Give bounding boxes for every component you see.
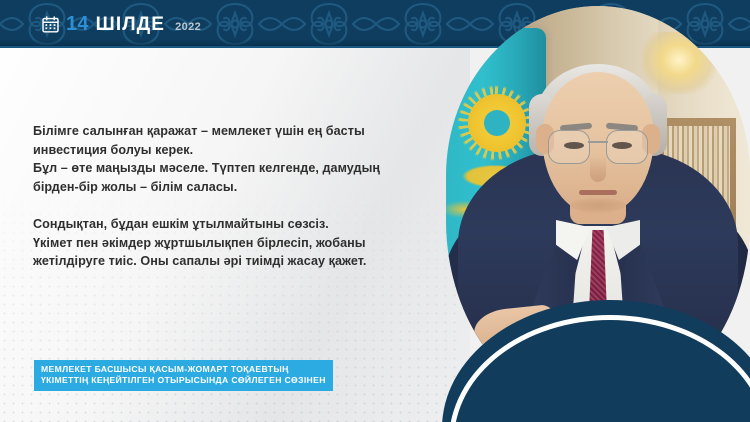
nose bbox=[590, 156, 606, 182]
calendar-icon bbox=[42, 16, 59, 33]
quote-paragraph-1: Білімге салынған қаражат – мемлекет үшін… bbox=[33, 122, 403, 196]
source-caption-banner: МЕМЛЕКЕТ БАСШЫСЫ ҚАСЫМ-ЖОМАРТ ТОҚАЕВТЫҢ … bbox=[34, 360, 333, 391]
flag-pole-finial bbox=[472, 16, 498, 40]
lens-left bbox=[548, 130, 590, 164]
quote-block: Білімге салынған қаражат – мемлекет үшін… bbox=[33, 122, 403, 271]
mouth bbox=[579, 190, 617, 195]
photo-chandelier bbox=[642, 32, 716, 94]
date-year: 2022 bbox=[175, 22, 201, 33]
date-group: 14 ШІЛДЕ 2022 bbox=[42, 0, 201, 48]
flag-sun bbox=[468, 94, 526, 152]
caption-line-2: ҮКІМЕТТІҢ КЕҢЕЙТІЛГЕН ОТЫРЫСЫНДА СӨЙЛЕГЕ… bbox=[41, 375, 326, 386]
lens-right bbox=[606, 130, 648, 164]
caption-line-1: МЕМЛЕКЕТ БАСШЫСЫ ҚАСЫМ-ЖОМАРТ ТОҚАЕВТЫҢ bbox=[41, 364, 326, 375]
date-month: ШІЛДЕ bbox=[96, 15, 165, 34]
chin-shadow bbox=[570, 198, 626, 212]
slide-canvas: 14 ШІЛДЕ 2022 Білімге салынған қаражат –… bbox=[0, 0, 750, 422]
glasses-bridge bbox=[588, 141, 608, 143]
portrait-photo-region bbox=[428, 0, 750, 422]
date-day: 14 bbox=[66, 14, 89, 34]
quote-paragraph-2: Сондықтан, бұдан ешкім ұтылмайтыны сөзсі… bbox=[33, 215, 403, 271]
